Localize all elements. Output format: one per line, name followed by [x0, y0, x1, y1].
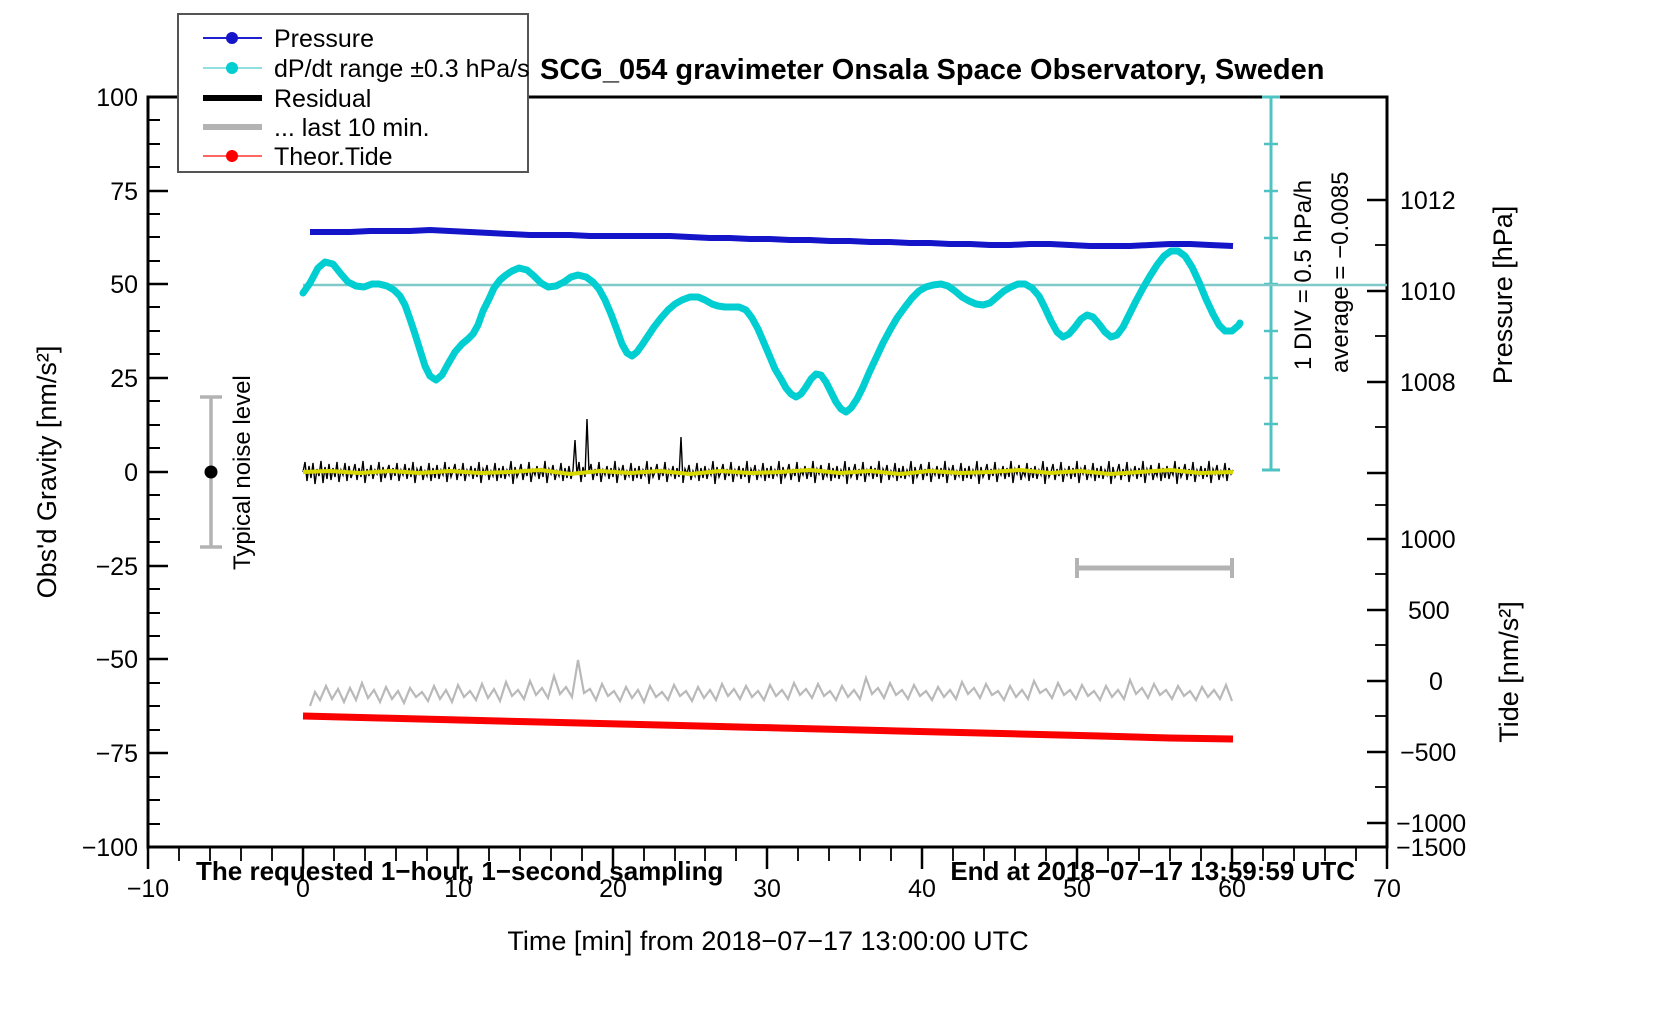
- pressure-tick-label: 1008: [1400, 369, 1456, 397]
- ytick-label: 25: [110, 365, 138, 393]
- legend-marker-icon: [226, 32, 238, 44]
- ytick-label: 75: [110, 178, 138, 206]
- average-label: average = −0.0085: [1327, 171, 1354, 373]
- gravimeter-chart: 100 75 50 25 0 −25 −50 −75 −100 Obs'd Gr…: [0, 0, 1676, 1020]
- legend-label: Residual: [274, 85, 371, 113]
- tide-tick-label: 0: [1429, 668, 1443, 696]
- xtick-label: 70: [1373, 875, 1401, 903]
- bottom-right-note: End at 2018−07−17 13:59:59 UTC: [950, 856, 1355, 886]
- ytick-label: −50: [96, 646, 138, 674]
- legend-label: dP/dt range ±0.3 hPa/s: [274, 55, 530, 83]
- legend-marker-icon: [226, 62, 238, 74]
- legend-label: Pressure: [274, 25, 374, 53]
- typical-noise-label: Typical noise level: [229, 375, 256, 570]
- ytick-label: 100: [96, 84, 138, 112]
- tide-tick-label: 1000: [1400, 526, 1456, 554]
- residual-smoothed-trace: [303, 470, 1233, 474]
- ytick-label: −25: [96, 553, 138, 581]
- gravimeter-plot-page: 100 75 50 25 0 −25 −50 −75 −100 Obs'd Gr…: [0, 0, 1676, 1020]
- tide-axis-title: Tide [nm/s²]: [1494, 601, 1524, 743]
- page-title: SCG_054 gravimeter Onsala Space Observat…: [540, 54, 1324, 86]
- tide-tick-label: −1500: [1396, 834, 1466, 862]
- x-axis-title: Time [min] from 2018−07−17 13:00:00 UTC: [507, 926, 1028, 956]
- ytick-label: −75: [96, 740, 138, 768]
- xtick-label: 30: [753, 875, 781, 903]
- legend-marker-icon: [226, 150, 238, 162]
- ytick-label: 0: [124, 459, 138, 487]
- xtick-label: −10: [127, 875, 169, 903]
- xtick-label: 40: [908, 875, 936, 903]
- pressure-axis-title: Pressure [hPa]: [1488, 206, 1518, 385]
- ytick-label: −100: [82, 834, 138, 862]
- tide-tick-label: −500: [1400, 739, 1456, 767]
- ytick-label: 50: [110, 271, 138, 299]
- legend: Pressure dP/dt range ±0.3 hPa/s Residual…: [178, 14, 530, 172]
- legend-label: Theor.Tide: [274, 143, 393, 171]
- pressure-tick-label: 1010: [1400, 278, 1456, 306]
- div-scale-label: 1 DIV = 0.5 hPa/h: [1290, 180, 1317, 370]
- tide-tick-label: 500: [1408, 597, 1450, 625]
- legend-label: ... last 10 min.: [274, 114, 430, 142]
- bottom-left-note: The requested 1−hour, 1−second sampling: [196, 856, 723, 886]
- y-axis-title: Obs'd Gravity [nm/s²]: [32, 346, 62, 599]
- pressure-tick-label: 1012: [1400, 187, 1456, 215]
